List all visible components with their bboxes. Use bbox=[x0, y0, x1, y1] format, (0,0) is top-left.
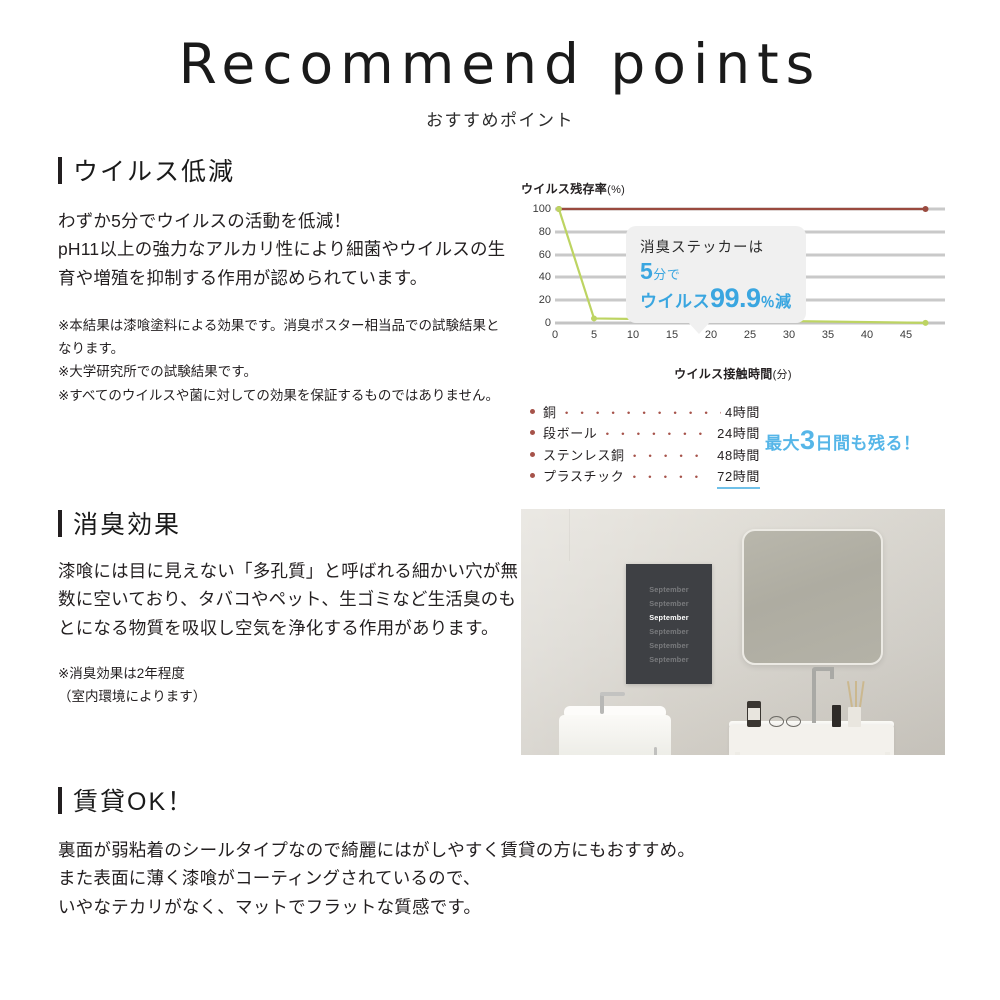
photo-small-dark-bottle bbox=[832, 705, 841, 727]
photo-wall-seam bbox=[569, 509, 570, 561]
callout-line-3: ウイルス99.9％減 bbox=[640, 285, 794, 312]
chart-y-tick: 60 bbox=[521, 249, 551, 261]
max-duration-note: 最大3日間も残る！ bbox=[765, 427, 921, 454]
chart-y-tick: 40 bbox=[521, 271, 551, 283]
section-heading: 消臭効果 bbox=[58, 505, 528, 541]
photo-faucet-main bbox=[812, 669, 816, 723]
photo-faucet-main-tip bbox=[830, 667, 834, 679]
legend-bullet-icon bbox=[530, 409, 535, 414]
chart-x-tick: 30 bbox=[783, 329, 795, 341]
section-body-rental: 裏面が弱粘着のシールタイプなので綺麗にはがしやすく賃貸の方にもおすすめ。 また表… bbox=[58, 836, 938, 921]
section-title-deodorize: 消臭効果 bbox=[73, 505, 181, 541]
section-notes-deodorize: ※消臭効果は2年程度 （室内環境によります） bbox=[58, 662, 528, 708]
section-title-rental: 賃貸OK！ bbox=[73, 782, 194, 818]
section-heading: ウイルス低減 bbox=[58, 152, 510, 188]
chart-x-axis-label: ウイルス接触時間(分) bbox=[521, 365, 945, 382]
chart-y-axis-label-text: ウイルス残存率 bbox=[521, 182, 607, 196]
section-notes-virus: ※本結果は漆喰塗料による効果です。消臭ポスター相当品での試験結果となります。 ※… bbox=[58, 314, 510, 407]
photo-toilet-handle bbox=[654, 747, 657, 755]
photo-hand-wash-faucet bbox=[600, 694, 604, 714]
legend-row: 段ボール・・・・・・・・24時間 bbox=[530, 423, 760, 444]
chart-x-tick: 10 bbox=[627, 329, 639, 341]
poster-line: September bbox=[626, 625, 712, 639]
photo-eyeglasses bbox=[769, 716, 801, 725]
callout-bubble: 消臭ステッカーは 5分で ウイルス99.9％減 bbox=[626, 226, 806, 323]
poster-line: September bbox=[626, 653, 712, 667]
photo-september-poster: SeptemberSeptemberSeptemberSeptemberSept… bbox=[626, 564, 712, 684]
chart-x-tick: 45 bbox=[900, 329, 912, 341]
chart-data-point bbox=[923, 320, 929, 326]
poster-line: September bbox=[626, 583, 712, 597]
callout-virus-word: ウイルス bbox=[640, 292, 710, 311]
callout-minutes-unit: 分 bbox=[653, 267, 667, 282]
photo-reed-stick bbox=[855, 681, 857, 707]
poster-line: September bbox=[626, 611, 712, 625]
legend-duration-value: 72時間 bbox=[717, 466, 760, 489]
max-note-number: 3 bbox=[800, 425, 816, 455]
legend-bullet-icon bbox=[530, 430, 535, 435]
chart-y-tick: 80 bbox=[521, 226, 551, 238]
legend-row: 銅・・・・・・・・・・・4時間 bbox=[530, 402, 760, 423]
max-note-prefix: 最大 bbox=[765, 434, 800, 453]
legend-leader-dots: ・・・・・ bbox=[628, 468, 713, 487]
chart-y-tick: 0 bbox=[521, 317, 551, 329]
photo-sink-counter bbox=[729, 725, 894, 755]
callout-minutes-tail: で bbox=[667, 267, 681, 282]
section-rental-ok: 賃貸OK！ 裏面が弱粘着のシールタイプなので綺麗にはがしやすく賃貸の方にもおすす… bbox=[58, 782, 938, 921]
photo-hand-wash-faucet-spout bbox=[600, 692, 625, 696]
heading-accent-bar bbox=[58, 787, 62, 814]
chart-data-point bbox=[591, 315, 597, 321]
chart-x-tick: 40 bbox=[861, 329, 873, 341]
chart-y-tick: 20 bbox=[521, 294, 551, 306]
section-heading: 賃貸OK！ bbox=[58, 782, 938, 818]
callout-percent-sign: ％ bbox=[761, 294, 776, 310]
note-item: ※消臭効果は2年程度 bbox=[58, 662, 528, 685]
max-note-suffix: 日間も残る！ bbox=[816, 434, 921, 453]
section-virus-reduction: ウイルス低減 わずか5分でウイルスの活動を低減！ pH11以上の強力なアルカリ性… bbox=[58, 152, 510, 407]
chart-x-tick: 35 bbox=[822, 329, 834, 341]
chart-y-tick: 100 bbox=[521, 203, 551, 215]
chart-data-point bbox=[923, 206, 929, 212]
photo-bottle-label bbox=[748, 708, 760, 720]
legend-duration-value: 48時間 bbox=[717, 445, 760, 466]
note-item: ※本結果は漆喰塗料による効果です。消臭ポスター相当品での試験結果となります。 bbox=[58, 314, 510, 360]
heading-accent-bar bbox=[58, 157, 62, 184]
section-deodorizing: 消臭効果 漆喰には目に見えない「多孔質」と呼ばれる細かい穴が無数に空いており、タ… bbox=[58, 505, 528, 708]
note-item: ※大学研究所での試験結果です。 bbox=[58, 360, 510, 383]
chart-y-axis: 100806040200 bbox=[521, 209, 551, 323]
callout-reduce-word: 減 bbox=[775, 294, 792, 311]
chart-x-tick: 5 bbox=[591, 329, 597, 341]
note-item: ※すべてのウイルスや菌に対しての効果を保証するものではありません。 bbox=[58, 384, 510, 407]
legend-leader-dots: ・・・・・・・・ bbox=[601, 425, 713, 444]
recommend-points-page: Recommend points おすすめポイント ウイルス低減 わずか5分でウ… bbox=[0, 0, 1000, 1000]
photo-reed-diffuser bbox=[848, 707, 861, 727]
chart-y-axis-unit: (%) bbox=[607, 184, 625, 196]
legend-material-label: 銅 bbox=[543, 402, 557, 423]
legend-duration-value: 24時間 bbox=[717, 423, 760, 444]
heading-accent-bar bbox=[58, 510, 62, 537]
legend-material-label: ステンレス銅 bbox=[543, 445, 625, 466]
page-subtitle: おすすめポイント bbox=[0, 106, 1000, 131]
legend-bullet-icon bbox=[530, 452, 535, 457]
legend-row: プラスチック・・・・・72時間 bbox=[530, 466, 760, 489]
virus-survival-chart: ウイルス残存率(%) 100806040200 0510152025303540… bbox=[521, 180, 945, 382]
callout-line-2: 5分で bbox=[640, 260, 794, 283]
section-title-virus: ウイルス低減 bbox=[73, 152, 235, 188]
callout-minutes-number: 5 bbox=[640, 258, 653, 284]
photo-counter-leg bbox=[735, 752, 740, 755]
legend-row: ステンレス銅・・・・・48時間 bbox=[530, 445, 760, 466]
legend-leader-dots: ・・・・・・・・・・・ bbox=[561, 404, 721, 423]
photo-mirror bbox=[742, 529, 883, 665]
page-title: Recommend points bbox=[0, 36, 1000, 94]
section-body-virus: わずか5分でウイルスの活動を低減！ pH11以上の強力なアルカリ性により細菌やウ… bbox=[58, 207, 510, 292]
page-header: Recommend points おすすめポイント bbox=[0, 36, 1000, 131]
chart-x-axis-unit: (分) bbox=[773, 369, 792, 381]
callout-percent-number: 99.9 bbox=[710, 283, 761, 313]
photo-counter-leg bbox=[885, 752, 890, 755]
chart-x-axis: 051015202530354045 bbox=[555, 329, 945, 345]
chart-x-tick: 15 bbox=[666, 329, 678, 341]
chart-x-tick: 0 bbox=[552, 329, 558, 341]
poster-line: September bbox=[626, 639, 712, 653]
chart-legend: 銅・・・・・・・・・・・4時間段ボール・・・・・・・・24時間ステンレス銅・・・… bbox=[530, 402, 760, 489]
chart-x-axis-label-text: ウイルス接触時間 bbox=[674, 367, 772, 381]
legend-material-label: プラスチック bbox=[543, 466, 624, 487]
poster-line: September bbox=[626, 597, 712, 611]
chart-y-axis-label: ウイルス残存率(%) bbox=[521, 180, 945, 197]
chart-x-tick: 25 bbox=[744, 329, 756, 341]
note-item: （室内環境によります） bbox=[58, 685, 528, 708]
bathroom-example-photo: SeptemberSeptemberSeptemberSeptemberSept… bbox=[521, 509, 945, 755]
section-body-deodorize: 漆喰には目に見えない「多孔質」と呼ばれる細かい穴が無数に空いており、タバコやペッ… bbox=[58, 557, 528, 642]
legend-material-label: 段ボール bbox=[543, 423, 597, 444]
chart-plot-area: 100806040200 051015202530354045 消臭ステッカーは… bbox=[521, 209, 945, 343]
legend-duration-value: 4時間 bbox=[725, 402, 760, 423]
callout-line-1: 消臭ステッカーは bbox=[640, 236, 794, 257]
chart-data-point bbox=[556, 206, 562, 212]
legend-bullet-icon bbox=[530, 473, 535, 478]
legend-leader-dots: ・・・・・ bbox=[629, 447, 714, 466]
photo-amber-bottle bbox=[747, 701, 761, 727]
